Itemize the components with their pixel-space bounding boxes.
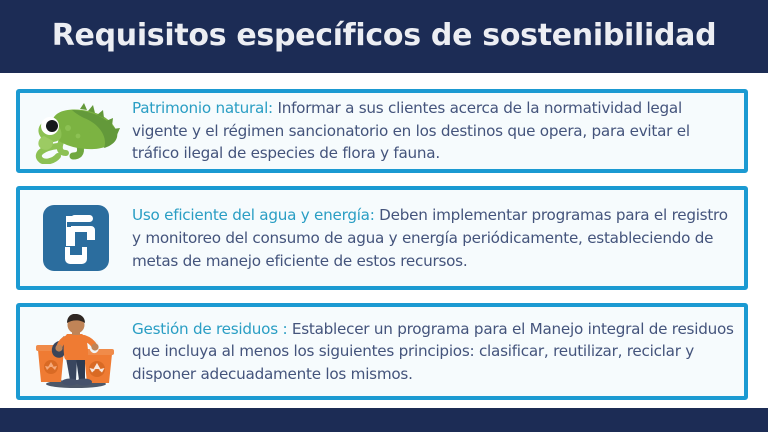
- card-heading: Gestión de residuos :: [132, 320, 287, 338]
- card-text: Patrimonio natural: Informar a sus clien…: [132, 97, 744, 165]
- card-heading: Patrimonio natural:: [132, 99, 273, 117]
- slide-root: Requisitos específicos de sostenibilidad: [0, 0, 768, 432]
- footer-band: [0, 408, 768, 432]
- water-tap-icon: [20, 190, 132, 286]
- requirement-card-waste-management[interactable]: Gestión de residuos : Establecer un prog…: [16, 303, 748, 400]
- waste-recycling-icon: [20, 307, 132, 396]
- iguana-icon: [20, 93, 132, 169]
- card-text: Uso eficiente del agua y energía: Deben …: [132, 204, 744, 273]
- page-title: Requisitos específicos de sostenibilidad: [0, 16, 768, 56]
- requirement-card-natural-heritage[interactable]: Patrimonio natural: Informar a sus clien…: [16, 89, 748, 173]
- card-text: Gestión de residuos : Establecer un prog…: [132, 318, 744, 386]
- requirement-card-water-energy[interactable]: Uso eficiente del agua y energía: Deben …: [16, 186, 748, 290]
- card-heading: Uso eficiente del agua y energía:: [132, 206, 375, 224]
